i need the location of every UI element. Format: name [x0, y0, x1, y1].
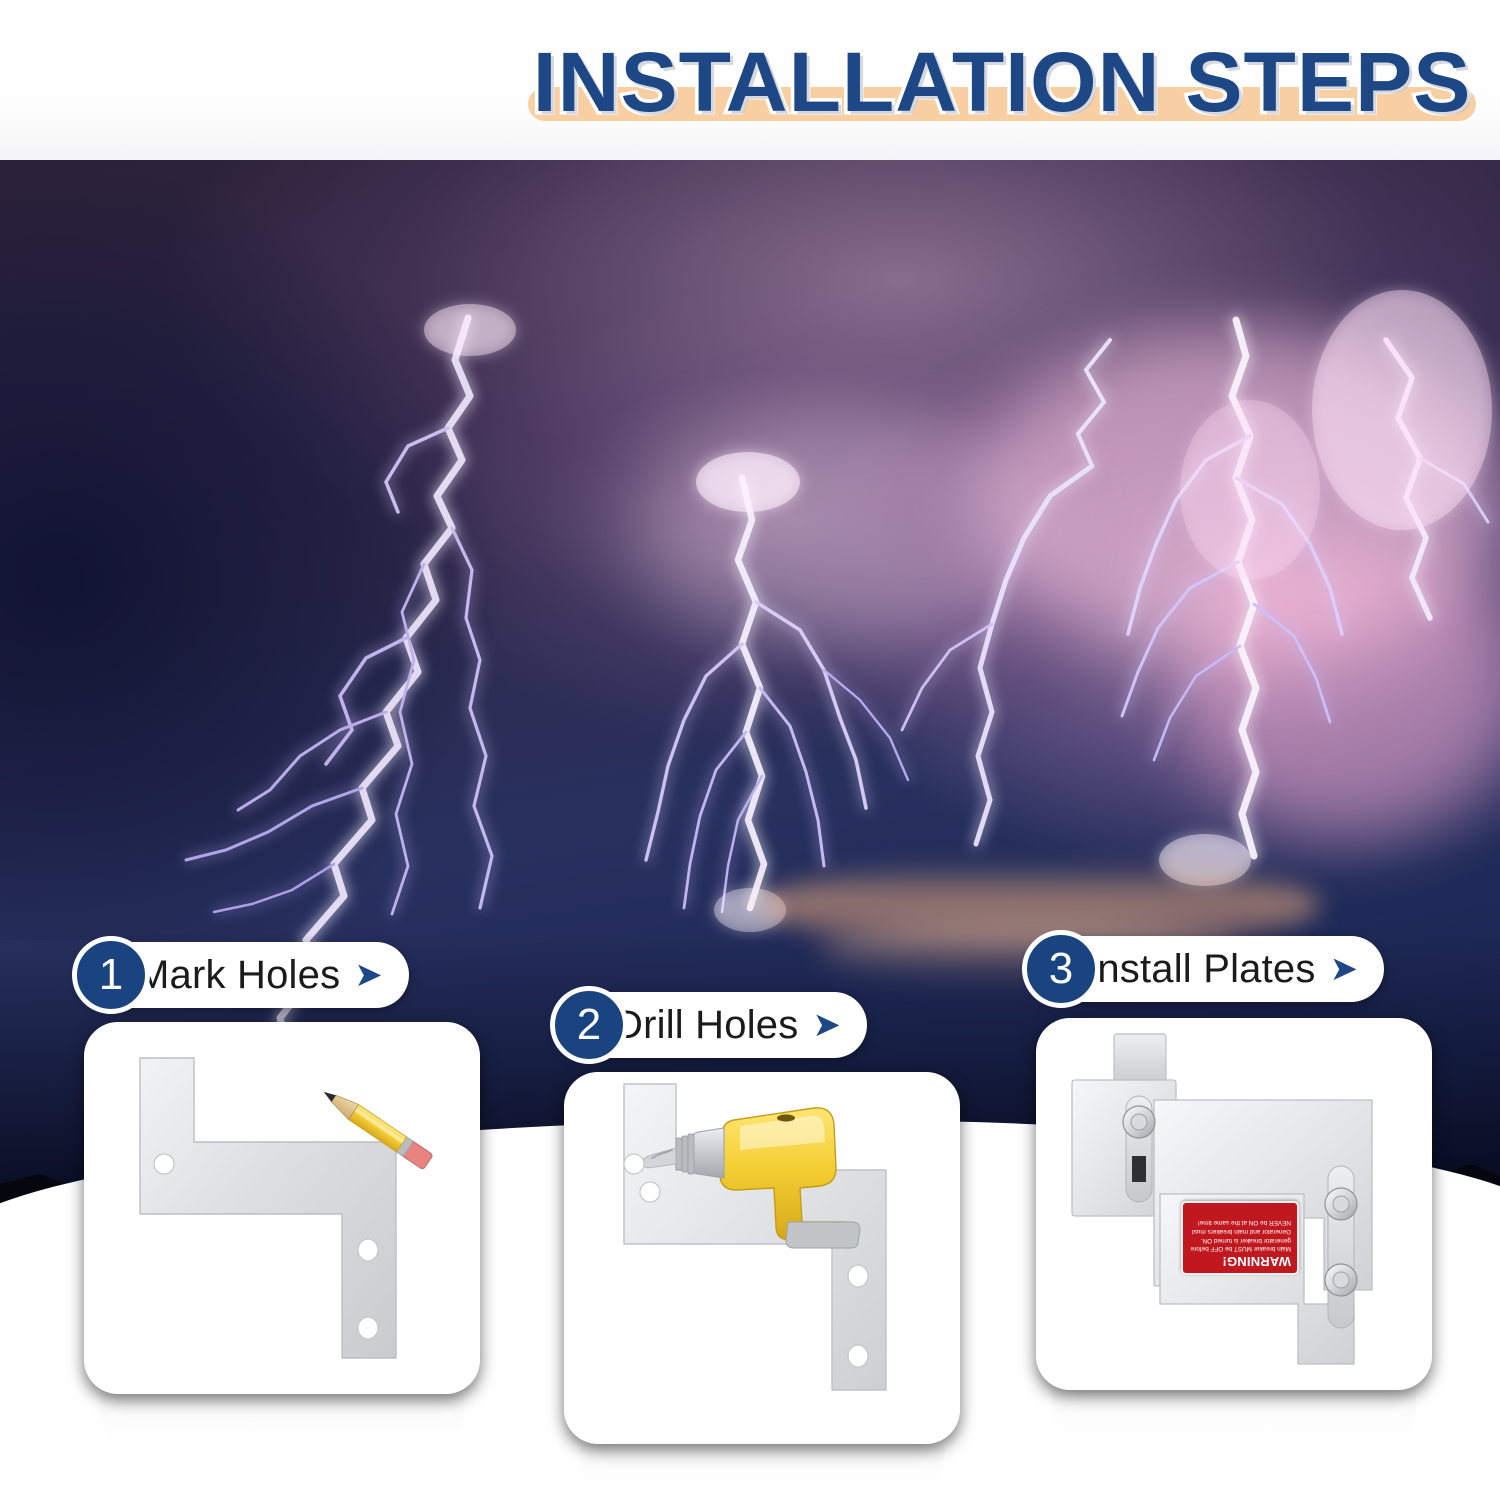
step-1-label: Mark Holes — [136, 953, 340, 998]
warning-line-3: Generator and main breakers must — [1189, 1226, 1291, 1235]
bracket-with-pencil-icon — [84, 1022, 480, 1394]
chevron-right-icon: ➤ — [812, 1008, 841, 1042]
step-3-number-badge: 3 — [1022, 930, 1100, 1008]
chevron-right-icon: ➤ — [354, 958, 383, 992]
warning-line-2: generator breaker is turned ON. — [1189, 1235, 1291, 1244]
chevron-right-icon: ➤ — [1330, 952, 1359, 986]
panel-2-reflection — [580, 1444, 944, 1494]
step-3-label: Install Plates — [1086, 947, 1316, 992]
warning-line-1: Main breaker MUST be OFF before — [1189, 1244, 1291, 1253]
infographic-stage: INSTALLATION STEPS — [0, 0, 1500, 1494]
step-1-pill[interactable]: 1 Mark Holes ➤ — [78, 942, 409, 1008]
step-2-product-panel[interactable] — [564, 1072, 960, 1444]
bracket-with-drill-icon — [564, 1072, 960, 1444]
warning-title: WARNING! — [1189, 1254, 1291, 1268]
panel-3-reflection — [1052, 1390, 1416, 1444]
step-3-pill[interactable]: 3 Install Plates ➤ — [1028, 936, 1384, 1002]
step-1-product-panel[interactable] — [84, 1022, 480, 1394]
step-3-product-panel[interactable]: WARNING! Main breaker MUST be OFF before… — [1036, 1018, 1432, 1390]
title-banner: INSTALLATION STEPS — [0, 0, 1500, 160]
warning-line-4: NEVER be ON at the same time! — [1189, 1218, 1291, 1227]
step-1-number-badge: 1 — [72, 936, 150, 1014]
step-2-number-badge: 2 — [550, 986, 628, 1064]
step-2-label: Drill Holes — [614, 1003, 798, 1048]
warning-label: WARNING! Main breaker MUST be OFF before… — [1181, 1201, 1299, 1275]
page-title: INSTALLATION STEPS — [533, 34, 1472, 131]
panel-1-reflection — [100, 1394, 464, 1448]
step-2-pill[interactable]: 2 Drill Holes ➤ — [556, 992, 867, 1058]
